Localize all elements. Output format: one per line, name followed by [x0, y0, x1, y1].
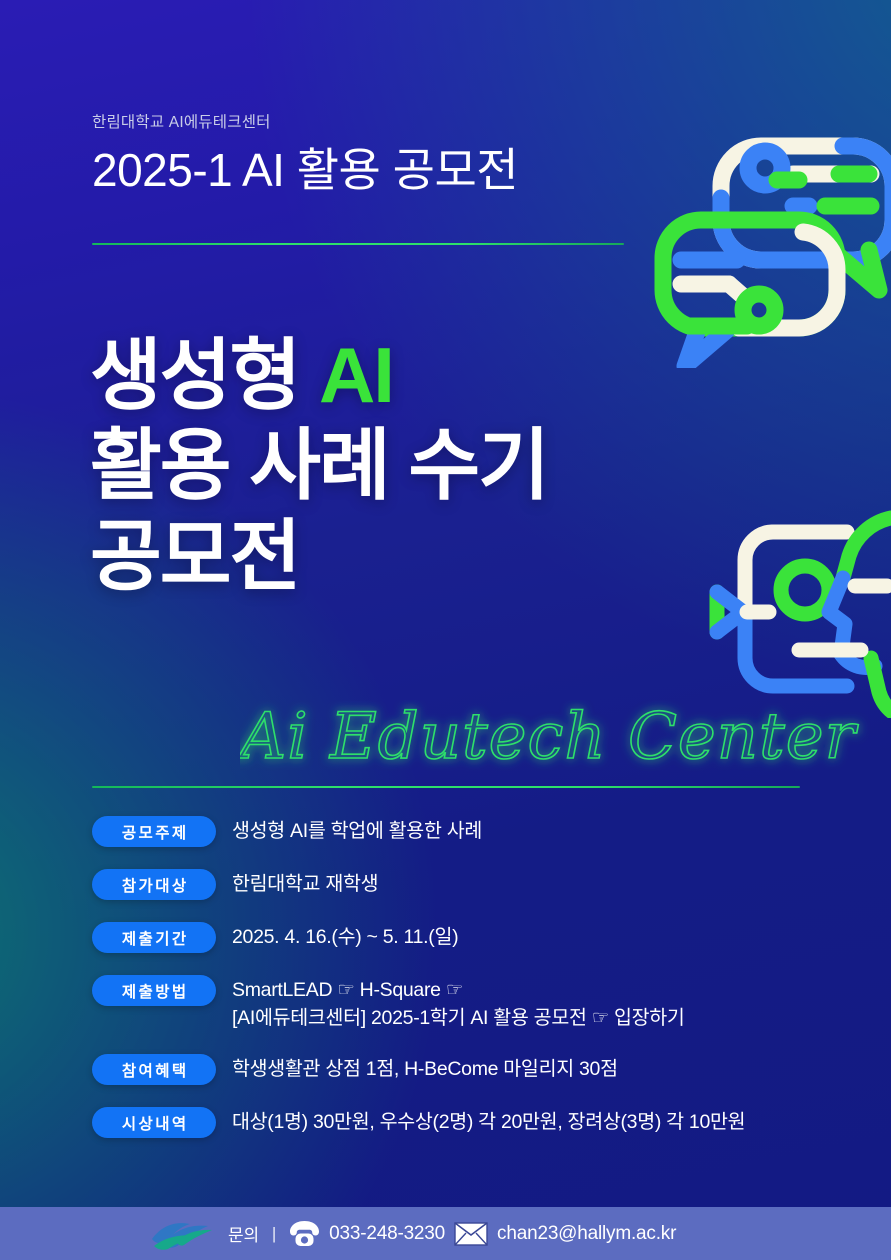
footer-email: chan23@hallym.ac.kr [497, 1223, 676, 1245]
hero-headline: 생성형 AI 활용 사례 수기 공모전 [90, 330, 790, 601]
info-label-topic: 공모주제 [92, 816, 216, 847]
info-label-submission: 제출방법 [92, 975, 216, 1006]
info-row-eligibility: 참가대상 한림대학교 재학생 [92, 869, 852, 900]
hallym-wave-logo [150, 1217, 216, 1251]
info-value-eligibility: 한림대학교 재학생 [232, 869, 378, 899]
info-value-topic: 생성형 AI를 학업에 활용한 사례 [232, 816, 482, 846]
info-value-submission: SmartLEAD ☞ H-Square ☞ [AI에듀테크센터] 2025-1… [232, 975, 685, 1032]
footer-bar: 문의 | 033-248-3230 chan23@hallym.ac.kr [0, 1207, 891, 1260]
footer-contact: 문의 | 033-248-3230 chan23@hallym.ac.kr [228, 1220, 676, 1247]
info-value-submission-line-1: SmartLEAD ☞ H-Square ☞ [232, 977, 685, 1005]
hero-line-2: 활용 사례 수기 [90, 420, 790, 510]
info-value-awards: 대상(1명) 30만원, 우수상(2명) 각 20만원, 장려상(3명) 각 1… [232, 1107, 745, 1137]
info-label-period: 제출기간 [92, 922, 216, 953]
footer-separator: | [268, 1224, 280, 1244]
info-value-awards-line-1: 대상(1명) 30만원, 우수상(2명) 각 20만원, 장려상(3명) 각 1… [232, 1109, 745, 1137]
info-value-period-line-1: 2025. 4. 16.(수) ~ 5. 11.(일) [232, 924, 458, 952]
info-row-awards: 시상내역 대상(1명) 30만원, 우수상(2명) 각 20만원, 장려상(3명… [92, 1107, 852, 1138]
hero-accent-ai: AI [319, 331, 393, 419]
info-row-benefits: 참여혜택 학생생활관 상점 1점, H-BeCome 마일리지 30점 [92, 1054, 852, 1085]
hero-line-1-text: 생성형 [90, 331, 319, 419]
info-value-eligibility-line-1: 한림대학교 재학생 [232, 871, 378, 899]
header-block: 한림대학교 AI에듀테크센터 2025-1 AI 활용 공모전 [92, 110, 652, 194]
poster-canvas: 한림대학교 AI에듀테크센터 2025-1 AI 활용 공모전 생성형 AI 활… [0, 0, 891, 1260]
footer-label-inquiry: 문의 [228, 1221, 259, 1246]
wordmark-ai-edutech-center: Ai Edutech Center [240, 700, 880, 778]
info-value-benefits: 학생생활관 상점 1점, H-BeCome 마일리지 30점 [232, 1054, 618, 1084]
divider-top [92, 243, 624, 245]
info-row-topic: 공모주제 생성형 AI를 학업에 활용한 사례 [92, 816, 852, 847]
eyebrow-text: 한림대학교 AI에듀테크센터 [92, 110, 652, 132]
info-value-topic-line-1: 생성형 AI를 학업에 활용한 사례 [232, 818, 482, 846]
info-value-period: 2025. 4. 16.(수) ~ 5. 11.(일) [232, 922, 458, 952]
info-list: 공모주제 생성형 AI를 학업에 활용한 사례 참가대상 한림대학교 재학생 제… [92, 816, 852, 1138]
info-label-eligibility: 참가대상 [92, 869, 216, 900]
footer-phone: 033-248-3230 [329, 1223, 445, 1245]
info-value-submission-line-2: [AI에듀테크센터] 2025-1학기 AI 활용 공모전 ☞ 입장하기 [232, 1005, 685, 1033]
info-label-benefits: 참여혜택 [92, 1054, 216, 1085]
info-row-submission: 제출방법 SmartLEAD ☞ H-Square ☞ [AI에듀테크센터] 2… [92, 975, 852, 1032]
info-label-awards: 시상내역 [92, 1107, 216, 1138]
divider-middle [92, 786, 800, 788]
envelope-icon [454, 1222, 488, 1246]
info-row-period: 제출기간 2025. 4. 16.(수) ~ 5. 11.(일) [92, 922, 852, 953]
page-title: 2025-1 AI 활용 공모전 [92, 146, 652, 194]
telephone-icon [289, 1220, 320, 1247]
hero-line-1: 생성형 AI [90, 330, 790, 420]
info-value-benefits-line-1: 학생생활관 상점 1점, H-BeCome 마일리지 30점 [232, 1056, 618, 1084]
hero-line-3: 공모전 [90, 511, 790, 601]
wordmark-text: Ai Edutech Center [240, 700, 859, 774]
